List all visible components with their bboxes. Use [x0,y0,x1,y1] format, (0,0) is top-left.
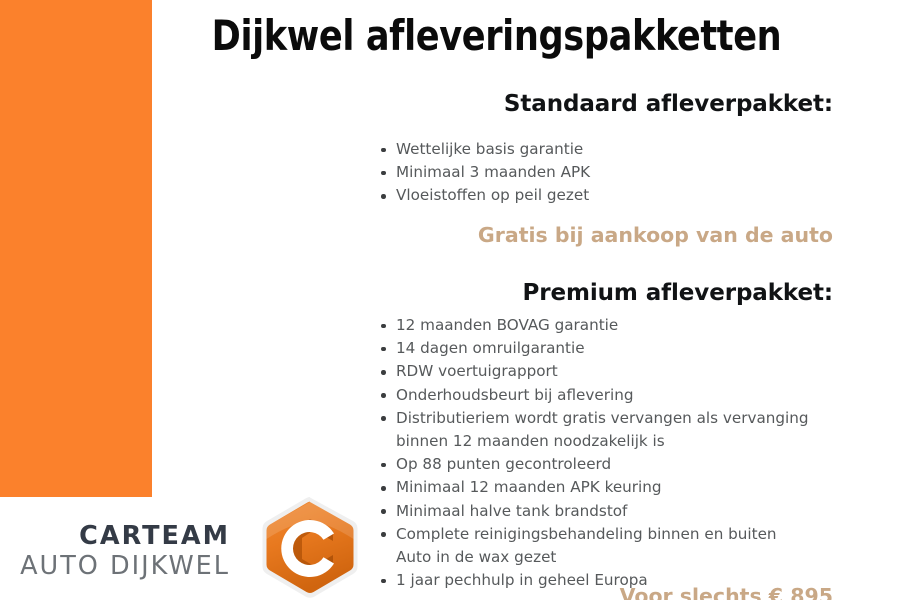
list-item: 14 dagen omruilgarantie [378,337,828,360]
list-item: RDW voertuigrapport [378,360,828,383]
standaard-feature-list: Wettelijke basis garantie Minimaal 3 maa… [378,138,590,208]
orange-accent-block [0,0,152,497]
list-item: Distributieriem wordt gratis vervangen a… [378,407,828,453]
promo-text-premium-price: Voor slechts € 895 [620,583,833,600]
list-item: Wettelijke basis garantie [378,138,590,161]
promo-text-standaard: Gratis bij aankoop van de auto [478,222,833,248]
brand-wordmark: CARTEAM AUTO DIJKWEL [2,521,230,581]
list-item: Onderhoudsbeurt bij aflevering [378,384,828,407]
list-item: Minimaal 3 maanden APK [378,161,590,184]
section-heading-standaard: Standaard afleverpakket: [504,90,833,118]
premium-feature-list: 12 maanden BOVAG garantie 14 dagen omrui… [378,314,828,592]
section-heading-premium: Premium afleverpakket: [523,279,834,307]
carteam-hexagon-c-logo-icon [257,495,367,600]
list-item: Complete reinigingsbehandeling binnen en… [378,523,828,546]
brand-name-dijkwel: AUTO DIJKWEL [2,551,230,581]
list-item: Minimaal 12 maanden APK keuring [378,476,828,499]
list-item: Op 88 punten gecontroleerd [378,453,828,476]
list-item: Vloeistoffen op peil gezet [378,184,590,207]
brand-name-carteam: CARTEAM [2,521,230,551]
list-item: Auto in de wax gezet [378,546,828,569]
list-item: Minimaal halve tank brandstof [378,500,828,523]
poster-canvas: Dijkwel afleveringspakketten Standaard a… [0,0,902,600]
list-item: 12 maanden BOVAG garantie [378,314,828,337]
page-title: Dijkwel afleveringspakketten [184,10,810,62]
